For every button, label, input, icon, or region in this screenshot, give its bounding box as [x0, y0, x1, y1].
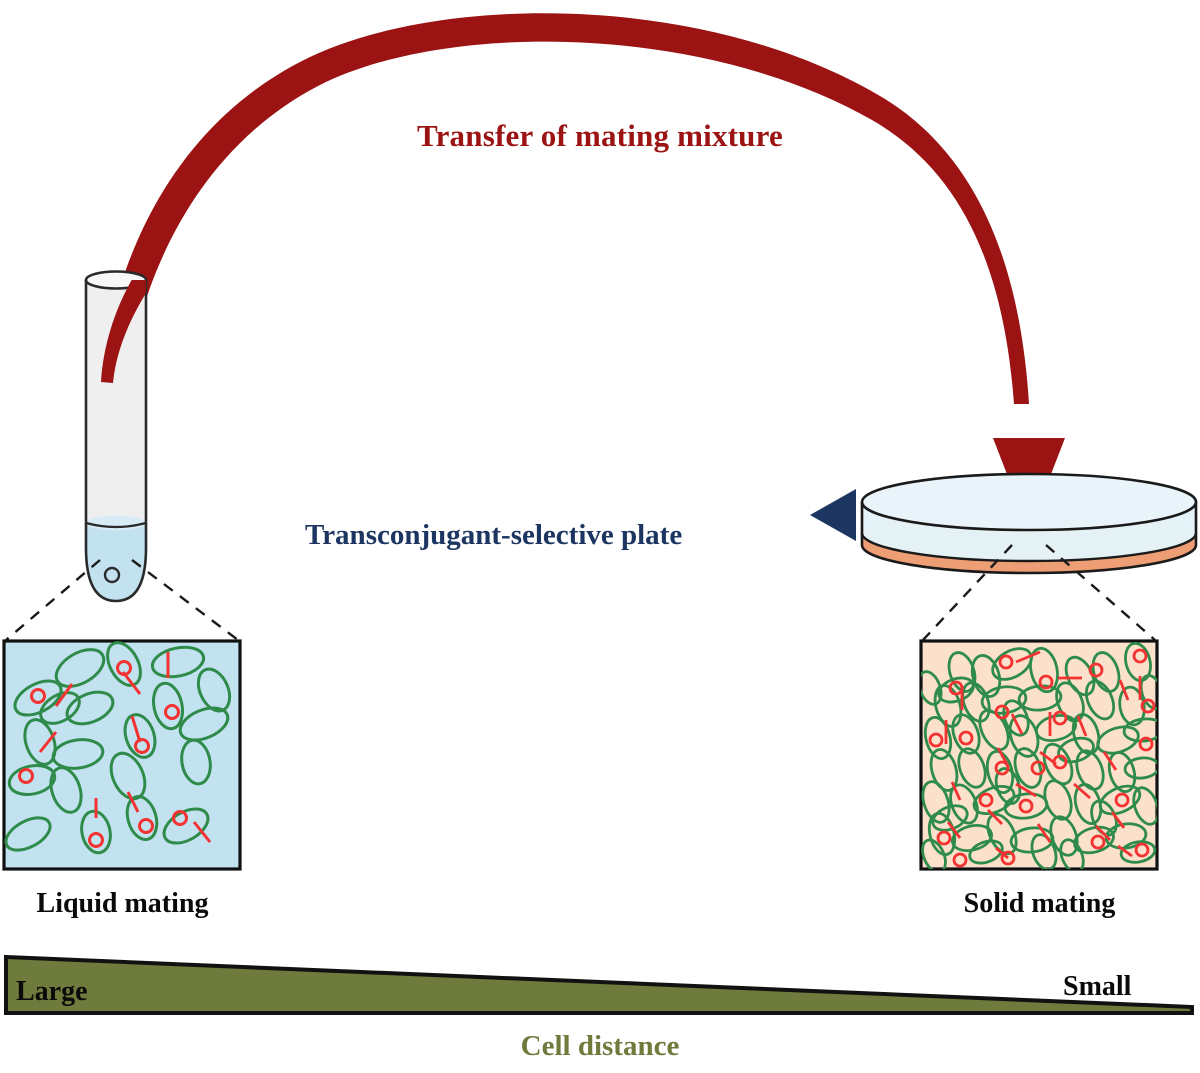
petri-dish	[862, 474, 1196, 573]
transfer-of-mating-mixture-label: Transfer of mating mixture	[0, 118, 1200, 154]
gradient-small-label: Small	[1063, 971, 1131, 1003]
gradient-large-label: Large	[16, 976, 88, 1008]
solid-mating-inset	[915, 641, 1167, 876]
cell-distance-caption: Cell distance	[0, 1030, 1200, 1063]
transfer-arrow-curve	[101, 13, 1029, 404]
solid-mating-label: Solid mating	[917, 888, 1162, 920]
liquid-mating-inset	[1, 637, 240, 869]
test-tube	[86, 262, 160, 601]
test-tube-liquid-surface	[86, 516, 146, 531]
leader-line-liquid-right	[132, 560, 238, 640]
plate-pointer-triangle	[810, 489, 856, 541]
cell-distance-wedge	[6, 957, 1192, 1013]
conjugation-diagram: Transfer of mating mixture Transconjugan…	[0, 0, 1200, 1073]
transfer-arrow	[101, 13, 1065, 531]
liquid-mating-label: Liquid mating	[0, 888, 245, 920]
transconjugant-selective-plate-label: Transconjugant-selective plate	[305, 519, 682, 552]
leader-line-liquid-left	[6, 560, 100, 640]
